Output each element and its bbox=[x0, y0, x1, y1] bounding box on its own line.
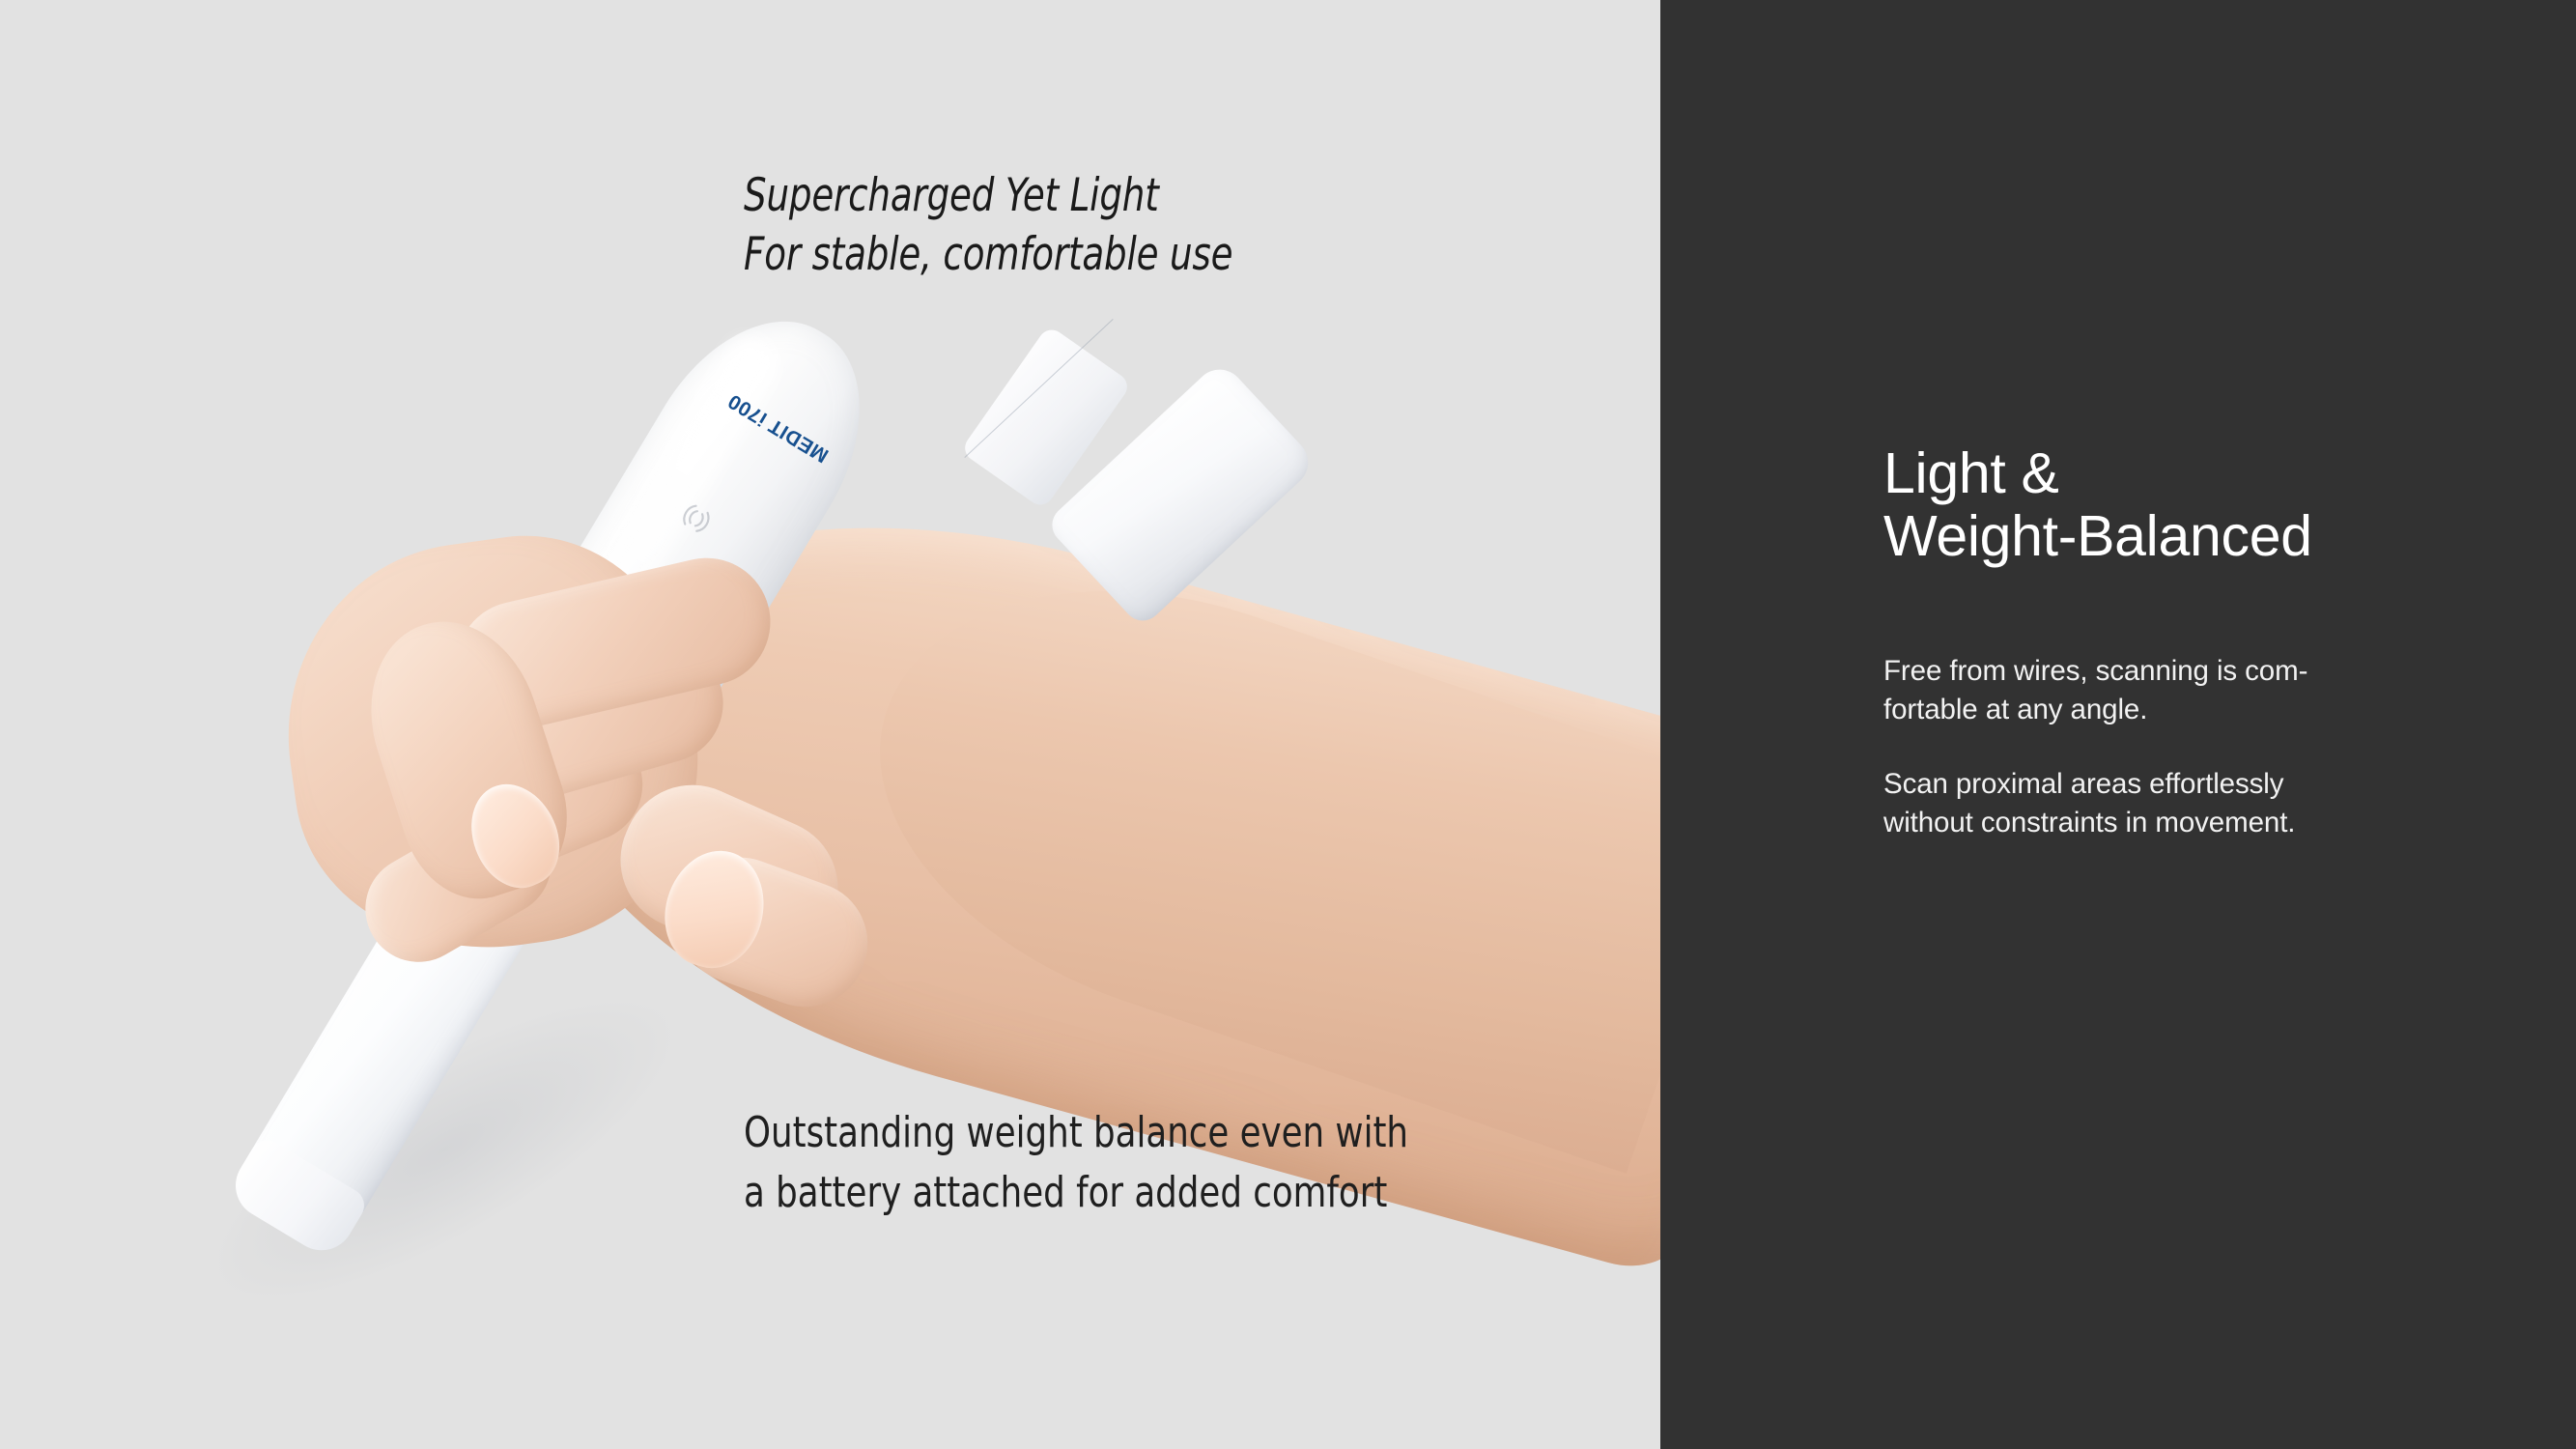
panel-paragraph-1: Free from wires, scanning is com- fortab… bbox=[1883, 652, 2307, 729]
left-panel: MEDIT i700 bbox=[0, 0, 1660, 1449]
right-panel: Light & Weight-Balanced Free from wires,… bbox=[1660, 0, 2576, 1449]
headline: Supercharged Yet Light For stable, comfo… bbox=[744, 166, 1232, 284]
caption: Outstanding weight balance even with a b… bbox=[744, 1103, 1408, 1223]
panel-paragraph-2: Scan proximal areas effortlessly without… bbox=[1883, 765, 2295, 842]
slide-root: MEDIT i700 bbox=[0, 0, 2576, 1449]
panel-heading: Light & Weight-Balanced bbox=[1883, 442, 2312, 568]
